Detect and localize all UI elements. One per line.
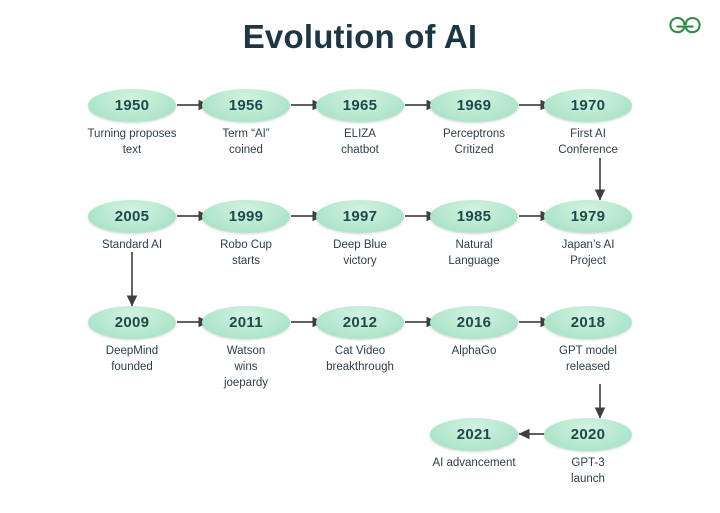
node-ellipse: 2021 — [430, 418, 518, 451]
node-year: 1997 — [343, 209, 378, 224]
node-year: 2005 — [115, 209, 150, 224]
timeline-node-2021[interactable]: 2021 AI advancement — [426, 418, 522, 472]
node-year: 2018 — [571, 315, 606, 330]
node-year: 2009 — [115, 315, 150, 330]
node-ellipse: 1970 — [544, 89, 632, 122]
timeline-node-2009[interactable]: 2009 DeepMind founded — [84, 306, 180, 376]
node-year: 1985 — [457, 209, 492, 224]
node-ellipse: 2016 — [430, 306, 518, 339]
timeline-node-1997[interactable]: 1997 Deep Blue victory — [312, 200, 408, 270]
node-ellipse: 2012 — [316, 306, 404, 339]
node-year: 2011 — [229, 315, 263, 330]
node-year: 1965 — [343, 98, 378, 113]
node-label: Term “AI” coined — [198, 127, 294, 159]
node-ellipse: 1999 — [202, 200, 290, 233]
node-label: Cat Video breakthrough — [312, 344, 408, 376]
node-label: Deep Blue victory — [312, 238, 408, 270]
node-label: ELIZA chatbot — [312, 127, 408, 159]
node-year: 1979 — [571, 209, 606, 224]
node-ellipse: 1979 — [544, 200, 632, 233]
node-year: 1956 — [229, 98, 264, 113]
node-year: 1999 — [229, 209, 264, 224]
timeline-node-2011[interactable]: 2011 Watson wins joepardy — [198, 306, 294, 392]
node-label: Turning proposes text — [84, 127, 180, 159]
node-ellipse: 1969 — [430, 89, 518, 122]
timeline-node-1999[interactable]: 1999 Robo Cup starts — [198, 200, 294, 270]
node-ellipse: 2020 — [544, 418, 632, 451]
node-label: AlphaGo — [426, 344, 522, 360]
node-year: 2016 — [457, 315, 492, 330]
node-label: GPT-3 launch — [540, 456, 636, 488]
node-year: 1969 — [457, 98, 492, 113]
timeline-node-1970[interactable]: 1970 First AI Conference — [540, 89, 636, 159]
geeksforgeeks-logo-icon — [664, 13, 706, 41]
node-year: 1970 — [571, 98, 606, 113]
node-label: Watson wins joepardy — [198, 344, 294, 392]
timeline-node-2018[interactable]: 2018 GPT model released — [540, 306, 636, 376]
node-year: 2020 — [571, 427, 606, 442]
diagram-canvas: Evolution of AI — [0, 0, 720, 513]
node-year: 1950 — [115, 98, 150, 113]
node-ellipse: 1997 — [316, 200, 404, 233]
node-label: DeepMind founded — [84, 344, 180, 376]
timeline-node-1950[interactable]: 1950 Turning proposes text — [84, 89, 180, 159]
node-label: Natural Language — [426, 238, 522, 270]
node-ellipse: 1985 — [430, 200, 518, 233]
timeline-node-1979[interactable]: 1979 Japan’s AI Project — [540, 200, 636, 270]
timeline-node-1965[interactable]: 1965 ELIZA chatbot — [312, 89, 408, 159]
node-label: Japan’s AI Project — [540, 238, 636, 270]
node-ellipse: 2009 — [88, 306, 176, 339]
page-title: Evolution of AI — [0, 18, 720, 56]
node-ellipse: 1950 — [88, 89, 176, 122]
node-ellipse: 2005 — [88, 200, 176, 233]
node-label: First AI Conference — [540, 127, 636, 159]
node-ellipse: 1956 — [202, 89, 290, 122]
timeline-node-2016[interactable]: 2016 AlphaGo — [426, 306, 522, 360]
node-label: GPT model released — [540, 344, 636, 376]
timeline-node-1985[interactable]: 1985 Natural Language — [426, 200, 522, 270]
node-label: Robo Cup starts — [198, 238, 294, 270]
node-ellipse: 2018 — [544, 306, 632, 339]
node-ellipse: 1965 — [316, 89, 404, 122]
node-ellipse: 2011 — [202, 306, 290, 339]
node-year: 2021 — [457, 427, 492, 442]
node-label: AI advancement — [399, 456, 549, 472]
node-year: 2012 — [343, 315, 378, 330]
timeline-node-1956[interactable]: 1956 Term “AI” coined — [198, 89, 294, 159]
timeline-node-2005[interactable]: 2005 Standard AI — [84, 200, 180, 254]
timeline-node-2012[interactable]: 2012 Cat Video breakthrough — [312, 306, 408, 376]
node-label: Perceptrons Critized — [426, 127, 522, 159]
node-label: Standard AI — [84, 238, 180, 254]
timeline-node-2020[interactable]: 2020 GPT-3 launch — [540, 418, 636, 488]
timeline-node-1969[interactable]: 1969 Perceptrons Critized — [426, 89, 522, 159]
